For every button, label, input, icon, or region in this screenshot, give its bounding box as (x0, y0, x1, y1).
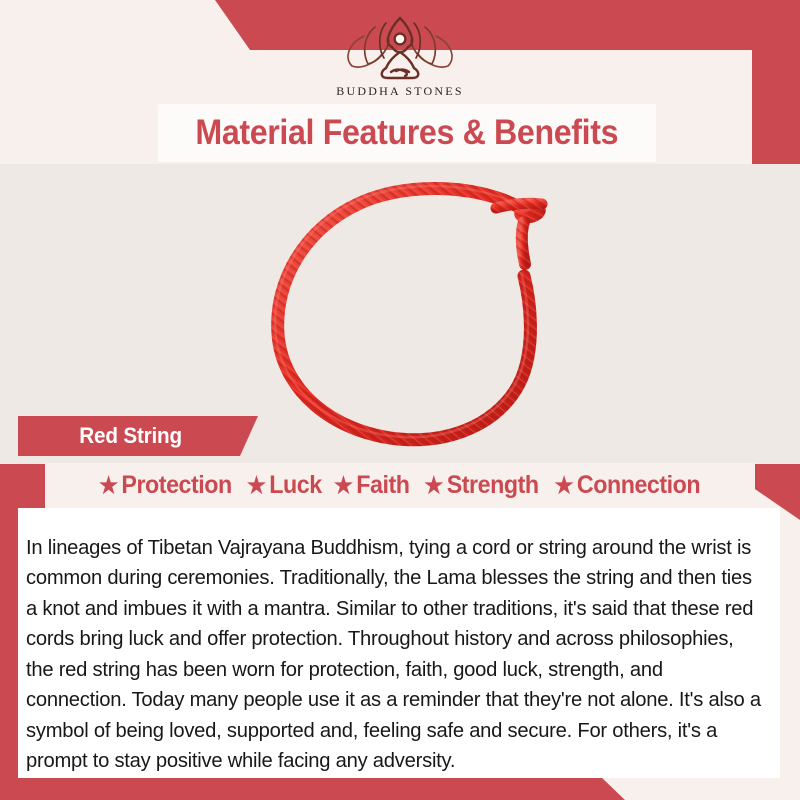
benefit-item-protection: ★ Protection (99, 471, 232, 500)
benefit-label: Faith (356, 471, 409, 500)
benefit-item-faith: ★ Faith (334, 471, 410, 500)
description-text: In lineages of Tibetan Vajrayana Buddhis… (26, 533, 763, 777)
benefit-label: Connection (577, 471, 700, 500)
material-label: Red String (79, 423, 182, 449)
star-icon: ★ (555, 474, 574, 497)
benefit-item-strength: ★ Strength (424, 471, 538, 500)
star-icon: ★ (334, 474, 353, 497)
benefit-item-connection: ★ Connection (555, 471, 701, 500)
star-icon: ★ (247, 474, 266, 497)
brand-logo: BUDDHA STONES (0, 14, 800, 99)
benefit-label: Protection (121, 471, 231, 500)
benefit-item-luck: ★ Luck (247, 471, 322, 500)
star-icon: ★ (424, 474, 443, 497)
benefit-label: Strength (446, 471, 538, 500)
bottom-red-band (0, 776, 640, 800)
page-title: Material Features & Benefits (196, 113, 619, 153)
product-image (228, 168, 614, 454)
star-icon: ★ (99, 474, 118, 497)
page-title-box: Material Features & Benefits (158, 104, 656, 162)
material-ribbon: Red String (18, 416, 258, 456)
infographic-page: BUDDHA STONES Material Features & Benefi… (0, 0, 800, 800)
lotus-meditation-icon (334, 14, 466, 82)
benefit-label: Luck (269, 471, 321, 500)
brand-name: BUDDHA STONES (336, 84, 463, 99)
benefits-list: ★ Protection ★ Luck ★ Faith ★ Strength ★… (45, 463, 755, 507)
